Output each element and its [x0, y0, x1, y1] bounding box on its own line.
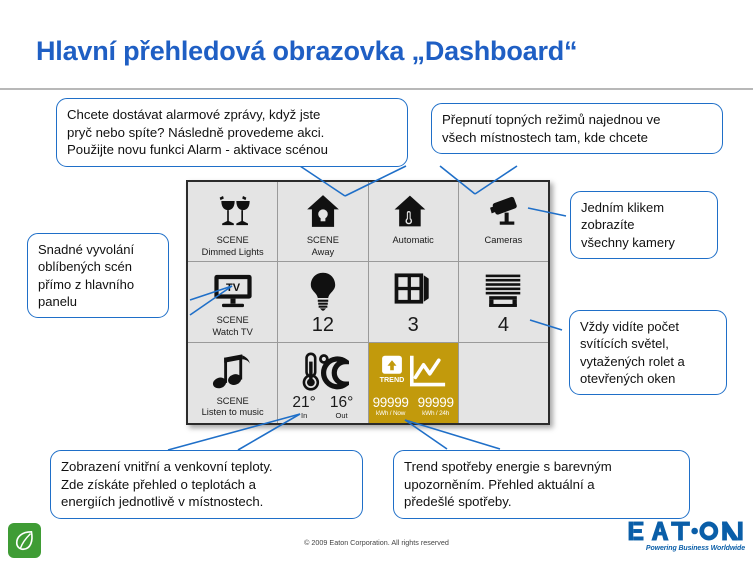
callout-line: předešlé spotřeby. [404, 493, 679, 511]
callout-line: otevřených oken [580, 370, 716, 387]
callout-line: Chcete dostávat alarmové zprávy, když js… [67, 106, 397, 124]
callout-line: Použijte novu funkci Alarm - aktivace sc… [67, 141, 397, 159]
callout-line: vytažených rolet a [580, 353, 716, 370]
callout-line: Jedním klikem [581, 199, 707, 216]
callout-counts: Vždy vidíte počet svítících světel, vyta… [569, 310, 727, 395]
callout-line: Zobrazení vnitřní a venkovní teploty. [61, 458, 352, 476]
callout-alarm: Chcete dostávat alarmové zprávy, když js… [56, 98, 408, 167]
callout-line: svítících světel, [580, 335, 716, 352]
callout-line: upozorněním. Přehled aktuální a [404, 476, 679, 494]
callout-line: přímo z hlavního [38, 276, 158, 293]
callout-line: Vždy vidíte počet [580, 318, 716, 335]
callout-scenes: Snadné vyvolání oblíbených scén přímo z … [27, 233, 169, 318]
callout-line: Přepnutí topných režimů najednou ve [442, 111, 712, 129]
callout-line: Zde získáte přehled o teplotách a [61, 476, 352, 494]
callout-line: všech místnostech tam, kde chcete [442, 129, 712, 147]
callout-line: oblíbených scén [38, 258, 158, 275]
callout-line: energiích jednotlivě v místnostech. [61, 493, 352, 511]
callout-line: všechny kamery [581, 234, 707, 251]
callout-line: pryč nebo spíte? Následně provedeme akci… [67, 124, 397, 142]
callout-line: zobrazíte [581, 216, 707, 233]
callout-line: Trend spotřeby energie s barevným [404, 458, 679, 476]
callout-line: panelu [38, 293, 158, 310]
callout-line: Snadné vyvolání [38, 241, 158, 258]
callout-trend: Trend spotřeby energie s barevným upozor… [393, 450, 690, 519]
callout-cameras: Jedním klikem zobrazíte všechny kamery [570, 191, 718, 259]
callout-heating: Přepnutí topných režimů najednou ve všec… [431, 103, 723, 154]
callout-temperature: Zobrazení vnitřní a venkovní teploty. Zd… [50, 450, 363, 519]
